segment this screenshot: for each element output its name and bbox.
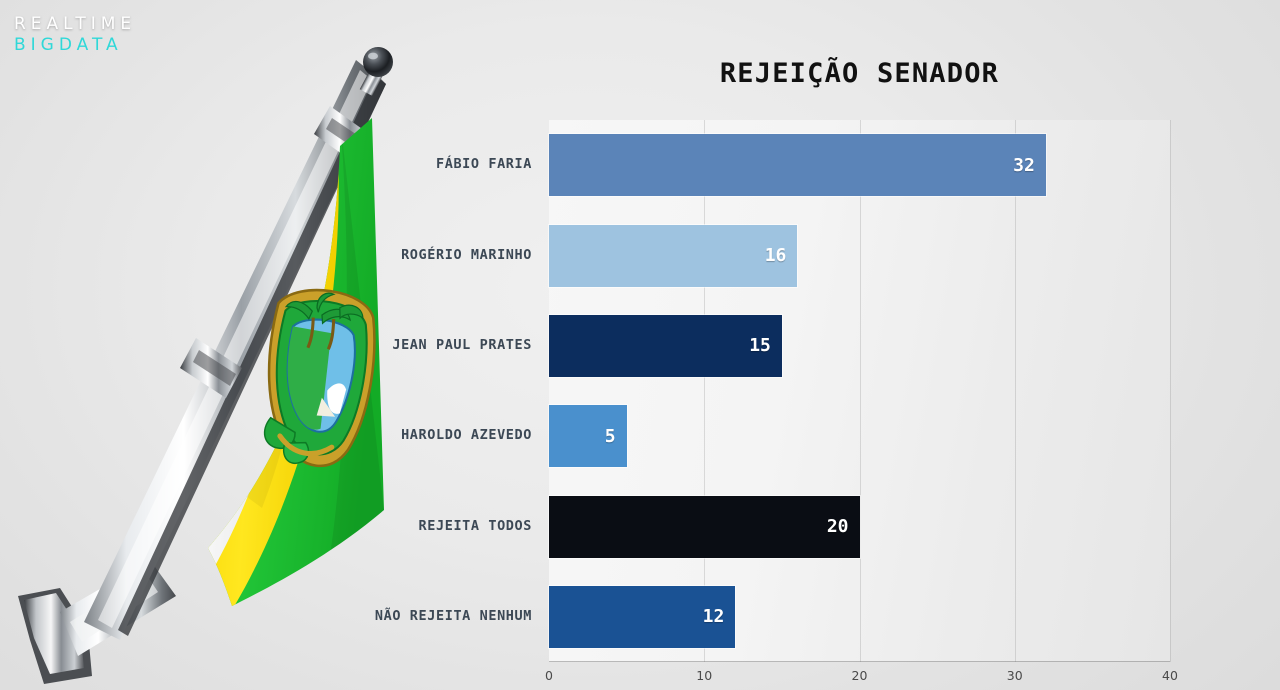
bar[interactable]: 16 xyxy=(549,225,797,287)
category-label: HAROLDO AZEVEDO xyxy=(401,427,532,443)
gridline xyxy=(1015,120,1016,662)
brand-line-bigdata: BIGDATA xyxy=(14,37,136,55)
bar-row: 15 xyxy=(549,315,1170,377)
gridline xyxy=(860,120,861,662)
bar-row: 16 xyxy=(549,225,1170,287)
category-label: NÃO REJEITA NENHUM xyxy=(375,608,532,624)
x-tick-label: 0 xyxy=(545,668,553,683)
x-tick-label: 20 xyxy=(852,668,868,683)
bar-value-label: 5 xyxy=(605,426,627,447)
bar[interactable]: 20 xyxy=(549,496,860,558)
bar-row: 12 xyxy=(549,586,1170,648)
bar[interactable]: 15 xyxy=(549,315,782,377)
category-label: REJEITA TODOS xyxy=(419,518,532,534)
category-label: JEAN PAUL PRATES xyxy=(392,337,532,353)
category-label: ROGÉRIO MARINHO xyxy=(401,247,532,263)
chart-title: REJEIÇÃO SENADOR xyxy=(549,58,1170,89)
x-tick-label: 10 xyxy=(696,668,712,683)
bar-row: 5 xyxy=(549,405,1170,467)
bar[interactable]: 12 xyxy=(549,586,735,648)
brand-line-realtime: REALTIME xyxy=(14,16,136,34)
bar[interactable]: 5 xyxy=(549,405,627,467)
bar-chart: REJEIÇÃO SENADOR 32161552012 FÁBIO FARIA… xyxy=(0,0,1280,690)
category-label: FÁBIO FARIA xyxy=(436,156,532,172)
bar-value-label: 12 xyxy=(703,606,736,627)
gridline xyxy=(704,120,705,662)
bar[interactable]: 32 xyxy=(549,134,1046,196)
plot-area: 32161552012 xyxy=(549,120,1170,662)
bar-value-label: 20 xyxy=(827,516,860,537)
x-tick-label: 30 xyxy=(1007,668,1023,683)
bar-row: 20 xyxy=(549,496,1170,558)
bar-row: 32 xyxy=(549,134,1170,196)
gridline xyxy=(1170,120,1171,662)
bar-value-label: 15 xyxy=(749,335,782,356)
x-axis-line xyxy=(549,661,1170,662)
x-tick-label: 40 xyxy=(1162,668,1178,683)
bar-value-label: 32 xyxy=(1013,155,1046,176)
bar-value-label: 16 xyxy=(765,245,798,266)
brand-logo: REALTIME BIGDATA xyxy=(14,16,136,55)
